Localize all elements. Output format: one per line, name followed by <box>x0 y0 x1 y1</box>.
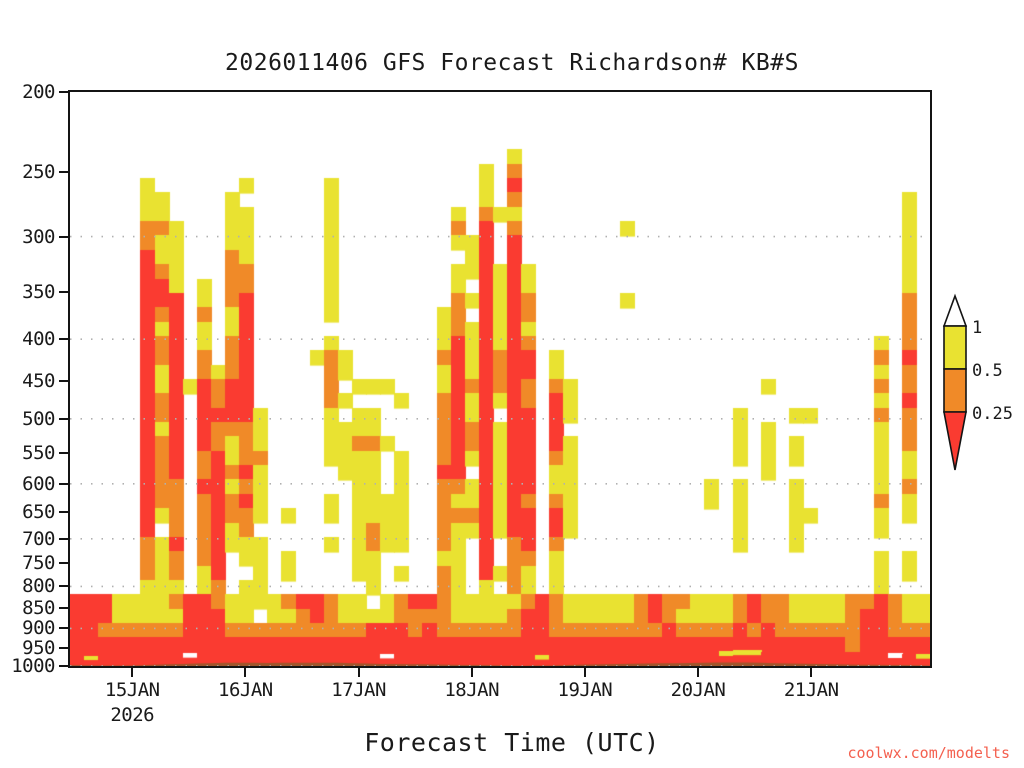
colorbar-band-orange <box>944 369 966 412</box>
y-tick-label: 650 <box>22 501 55 523</box>
x-tick-label: 16JAN <box>218 679 273 701</box>
y-tick-mark <box>59 483 68 485</box>
y-tick-label: 550 <box>22 442 55 464</box>
y-tick-mark <box>59 607 68 609</box>
y-tick-label: 850 <box>22 597 55 619</box>
y-tick-mark <box>59 627 68 629</box>
y-tick-mark <box>59 91 68 93</box>
chart-title: 2026011406 GFS Forecast Richardson# KB#S <box>0 50 1024 76</box>
y-tick-mark <box>59 538 68 540</box>
chart-stage: 2026011406 GFS Forecast Richardson# KB#S… <box>0 0 1024 768</box>
y-tick-label: 400 <box>22 328 55 350</box>
y-tick-label: 350 <box>22 281 55 303</box>
x-tick-mark <box>584 668 586 677</box>
y-tick-mark <box>59 291 68 293</box>
x-tick-label: 21JAN <box>784 679 839 701</box>
y-tick-label: 750 <box>22 552 55 574</box>
y-tick-label: 200 <box>22 81 55 103</box>
watermark: coolwx.com/modelts <box>847 744 1010 762</box>
y-tick-mark <box>59 452 68 454</box>
y-tick-mark <box>59 665 68 667</box>
y-tick-mark <box>59 418 68 420</box>
x-tick-mark <box>131 668 133 677</box>
x-tick-mark <box>810 668 812 677</box>
y-tick-mark <box>59 562 68 564</box>
richardson-number-colorbar: 1 0.5 0.25 <box>938 293 1024 473</box>
y-tick-mark <box>59 171 68 173</box>
x-tick-mark <box>358 668 360 677</box>
x-tick-label: 17JAN <box>331 679 386 701</box>
y-tick-label: 300 <box>22 226 55 248</box>
x-tick-mark <box>471 668 473 677</box>
y-tick-label: 250 <box>22 161 55 183</box>
y-tick-mark <box>59 380 68 382</box>
plot-area <box>68 90 932 668</box>
y-tick-label: 450 <box>22 370 55 392</box>
y-tick-label: 700 <box>22 528 55 550</box>
colorbar-extend-top <box>944 296 966 326</box>
y-tick-mark <box>59 511 68 513</box>
colorbar-band-yellow <box>944 326 966 369</box>
y-tick-label: 600 <box>22 473 55 495</box>
x-tick-label: 18JAN <box>444 679 499 701</box>
x-tick-label: 19JAN <box>558 679 613 701</box>
y-tick-mark <box>59 338 68 340</box>
x-axis: 15JAN202616JAN17JAN18JAN19JAN20JAN21JAN <box>0 668 1024 728</box>
colorbar-label-1: 1 <box>972 318 982 338</box>
colorbar-label-0.5: 0.5 <box>972 361 1003 381</box>
colorbar-label-0.25: 0.25 <box>972 404 1013 424</box>
y-tick-mark <box>59 236 68 238</box>
x-tick-label: 15JAN <box>105 679 160 701</box>
y-tick-label: 500 <box>22 408 55 430</box>
x-tick-label: 20JAN <box>671 679 726 701</box>
richardson-heatmap <box>70 92 930 666</box>
colorbar-extend-bottom <box>944 412 966 470</box>
x-tick-year-label: 2026 <box>110 704 154 726</box>
y-axis: 2002503003504004505005506006507007508008… <box>0 90 68 668</box>
x-tick-mark <box>697 668 699 677</box>
y-tick-mark <box>59 647 68 649</box>
y-tick-label: 800 <box>22 575 55 597</box>
y-tick-mark <box>59 585 68 587</box>
x-tick-mark <box>244 668 246 677</box>
